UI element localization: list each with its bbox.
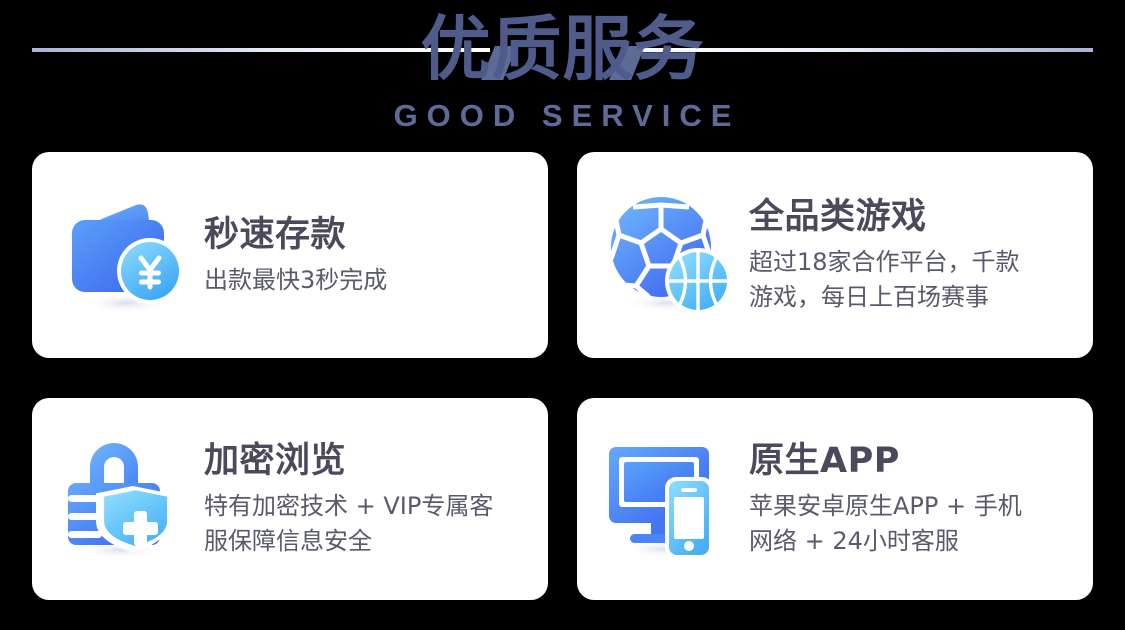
- card-text-block: 原生APP 苹果安卓原生APP + 手机 网络 + 24小时客服: [735, 439, 1075, 559]
- card-title: 秒速存款: [204, 213, 530, 257]
- wallet-yen-icon: [58, 189, 190, 321]
- service-card-grid: 秒速存款 出款最快3秒完成: [32, 152, 1093, 600]
- card-subtitle-line: 超过18家合作平台，千款: [749, 245, 1075, 280]
- card-subtitle-line: 服保障信息安全: [204, 524, 530, 559]
- page-header: 优质服务 GOOD SERVICE: [0, 0, 1125, 145]
- card-text-block: 加密浏览 特有加密技术 + VIP专属客 服保障信息安全: [190, 439, 530, 559]
- lock-shield-icon: [58, 433, 190, 565]
- service-card-encrypted-browsing[interactable]: 加密浏览 特有加密技术 + VIP专属客 服保障信息安全: [32, 398, 548, 600]
- card-subtitle-line: 游戏，每日上百场赛事: [749, 280, 1075, 315]
- card-subtitle-line: 网络 + 24小时客服: [749, 524, 1075, 559]
- card-subtitle-line: 特有加密技术 + VIP专属客: [204, 489, 530, 524]
- service-card-native-app[interactable]: 原生APP 苹果安卓原生APP + 手机 网络 + 24小时客服: [577, 398, 1093, 600]
- card-text-block: 全品类游戏 超过18家合作平台，千款 游戏，每日上百场赛事: [735, 195, 1075, 315]
- card-subtitle-line: 苹果安卓原生APP + 手机: [749, 489, 1075, 524]
- page-title: 优质服务: [0, 8, 1125, 90]
- card-text-block: 秒速存款 出款最快3秒完成: [190, 213, 530, 298]
- service-card-instant-deposit[interactable]: 秒速存款 出款最快3秒完成: [32, 152, 548, 358]
- card-title: 全品类游戏: [749, 195, 1075, 239]
- card-title: 加密浏览: [204, 439, 530, 483]
- page-subtitle: GOOD SERVICE: [0, 98, 1125, 134]
- soccer-basketball-icon: [603, 189, 735, 321]
- card-subtitle-line: 出款最快3秒完成: [204, 263, 530, 298]
- monitor-phone-icon: [603, 433, 735, 565]
- service-card-all-category-games[interactable]: 全品类游戏 超过18家合作平台，千款 游戏，每日上百场赛事: [577, 152, 1093, 358]
- card-title: 原生APP: [749, 439, 1075, 483]
